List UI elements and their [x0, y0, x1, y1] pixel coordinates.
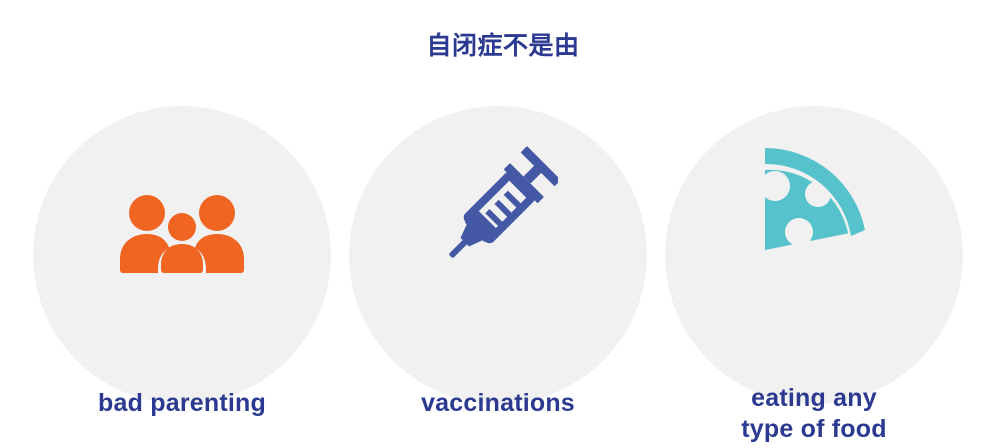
family-icon — [33, 168, 331, 298]
card-label-bad-parenting: bad parenting — [33, 388, 331, 419]
card-eating-any-type-of-food[interactable]: eating any type of food — [665, 106, 963, 404]
infographic-root: 自闭症不是由 bad pare — [0, 0, 1006, 448]
card-bad-parenting[interactable]: bad parenting — [33, 106, 331, 404]
pizza-slice-icon — [665, 136, 963, 266]
card-label-eating-any-type-of-food: eating any type of food — [665, 383, 963, 445]
cards-container: bad parenting — [0, 0, 1006, 448]
card-label-line-1: eating any — [665, 383, 963, 414]
card-label-line-2: type of food — [665, 414, 963, 445]
card-vaccinations[interactable]: vaccinations — [349, 106, 647, 404]
syringe-icon — [349, 144, 647, 274]
pizza-slice-icon-svg — [759, 146, 869, 256]
card-label-vaccinations: vaccinations — [349, 388, 647, 419]
syringe-icon-svg — [438, 144, 558, 274]
family-icon-svg — [117, 193, 247, 273]
